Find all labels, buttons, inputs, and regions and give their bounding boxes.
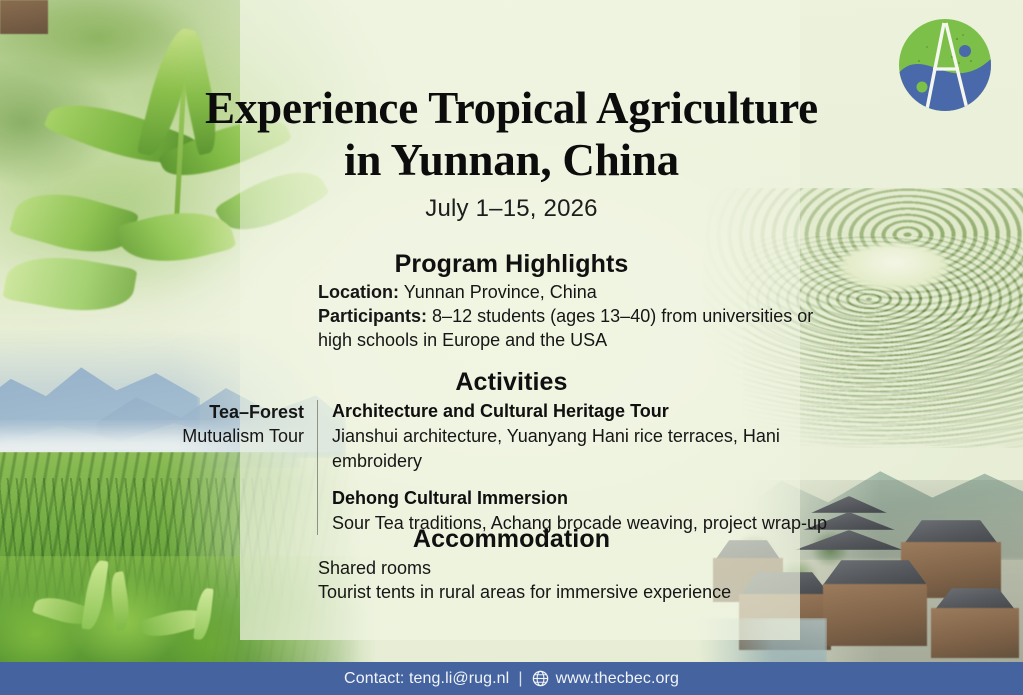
poster-root: Experience Tropical Agriculture in Yunna… xyxy=(0,0,1023,695)
activities-left-label: Tea–Forest Mutualism Tour xyxy=(150,400,317,448)
activity-description: Jianshui architecture, Yuanyang Hani ric… xyxy=(332,424,870,472)
activity-item: Architecture and Cultural Heritage Tour … xyxy=(332,400,870,473)
section-heading-program-highlights: Program Highlights xyxy=(0,250,1023,279)
accommodation-body: Shared rooms Tourist tents in rural area… xyxy=(318,556,798,604)
participants-line: Participants: 8–12 students (ages 13–40)… xyxy=(318,304,828,352)
activities-list: Architecture and Cultural Heritage Tour … xyxy=(332,400,870,535)
activities-divider xyxy=(317,400,318,535)
location-line: Location: Yunnan Province, China xyxy=(318,280,828,304)
footer-bar: Contact: teng.li@rug.nl | www.thecbec.or… xyxy=(0,662,1023,695)
location-value: Yunnan Province, China xyxy=(404,282,597,302)
activity-title: Dehong Cultural Immersion xyxy=(332,487,870,510)
section-heading-accommodation: Accommodation xyxy=(0,525,1023,554)
activities-block: Tea–Forest Mutualism Tour Architecture a… xyxy=(150,400,870,535)
program-dates: July 1–15, 2026 xyxy=(0,195,1023,223)
mutualism-tour-label: Mutualism Tour xyxy=(150,424,304,448)
website-url-text: www.thecbec.org xyxy=(556,670,679,688)
location-label: Location: xyxy=(318,282,399,302)
title-line-1: Experience Tropical Agriculture xyxy=(205,83,818,133)
title-line-2: in Yunnan, China xyxy=(344,135,679,185)
globe-icon xyxy=(532,670,549,687)
program-highlights-body: Location: Yunnan Province, China Partici… xyxy=(318,280,828,352)
accommodation-line-2: Tourist tents in rural areas for immersi… xyxy=(318,580,798,604)
contact-email-text[interactable]: Contact: teng.li@rug.nl xyxy=(344,670,509,688)
accommodation-line-1: Shared rooms xyxy=(318,556,798,580)
section-heading-activities: Activities xyxy=(0,368,1023,397)
website-link[interactable]: www.thecbec.org xyxy=(532,670,679,688)
activity-title: Architecture and Cultural Heritage Tour xyxy=(332,400,870,423)
tea-forest-label: Tea–Forest xyxy=(150,400,304,424)
title-block: Experience Tropical Agriculture in Yunna… xyxy=(0,82,1023,223)
page-title: Experience Tropical Agriculture in Yunna… xyxy=(0,82,1023,186)
participants-label: Participants: xyxy=(318,306,427,326)
footer-separator: | xyxy=(518,670,522,688)
